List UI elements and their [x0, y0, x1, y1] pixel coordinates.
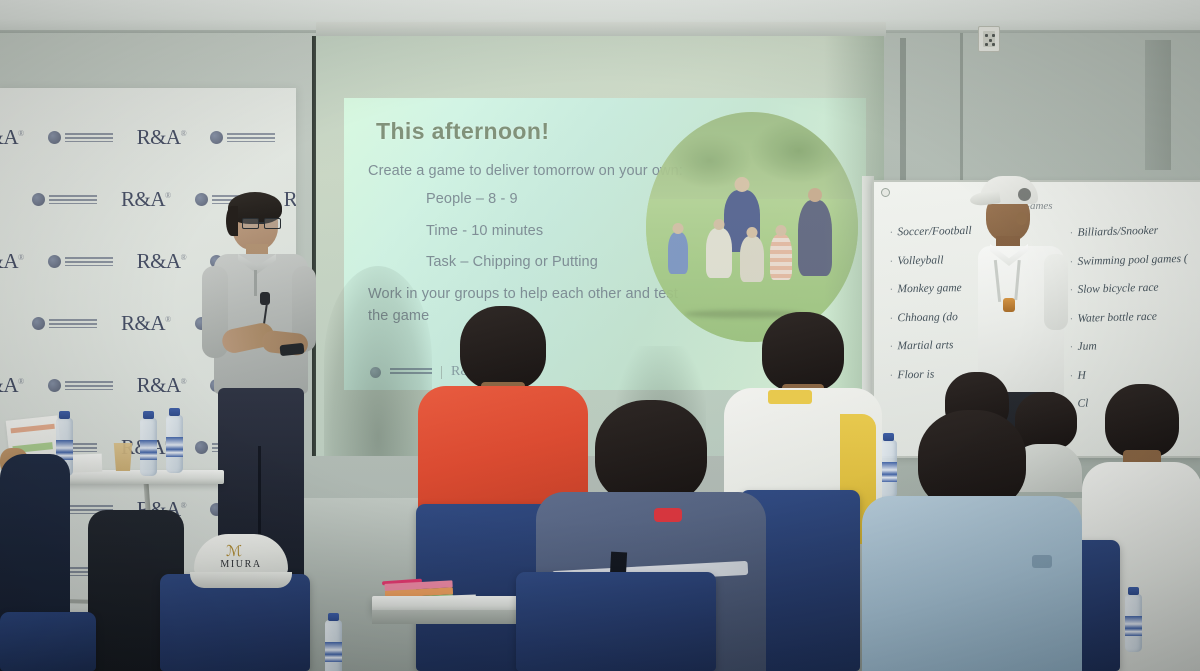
sponsor-logo	[32, 193, 97, 206]
sponsor-mark-icon	[210, 131, 223, 144]
water-bottle[interactable]	[166, 415, 183, 473]
miura-cap: ℳ MIURA	[190, 534, 292, 592]
sponsor-logo	[210, 131, 275, 144]
sponsor-mark-icon	[32, 317, 45, 330]
whiteboard-item-label: Swimming pool games (	[1077, 253, 1187, 268]
sponsor-mark-icon	[32, 193, 45, 206]
presenter-hair-side	[226, 206, 238, 236]
ra-logo: R&A®	[137, 125, 187, 150]
flipchart-band	[11, 424, 55, 434]
whiteboard-item-label: Monkey game	[897, 283, 961, 296]
ra-logo: R&A®	[137, 373, 187, 398]
photo-figure-child	[706, 228, 732, 278]
shirt-pocket	[1032, 555, 1052, 568]
cap-brim	[190, 572, 292, 588]
lanyard-badge	[1003, 298, 1015, 312]
attendee-light-blue-polo	[862, 410, 1082, 671]
slide-title: This afternoon!	[376, 118, 549, 145]
whiteboard-item-label: Volleyball	[897, 255, 943, 267]
bullet-icon: ·	[890, 285, 893, 295]
whiteboard-item: ·Water bottle race	[1070, 309, 1200, 325]
whiteboard-item: ·Jum	[1070, 338, 1200, 354]
slide-photo	[646, 112, 858, 342]
chair[interactable]	[0, 612, 96, 671]
sponsor-mark-icon	[370, 367, 381, 378]
whiteboard-item-label: Soccer/Football	[897, 226, 971, 239]
cap-logo-icon	[1018, 188, 1031, 201]
whiteboard-item: ·Swimming pool games (	[1070, 252, 1200, 268]
sponsor-wordmark-icon	[49, 195, 97, 204]
water-bottle[interactable]	[325, 620, 342, 671]
bullet-icon: ·	[890, 342, 893, 352]
backdrop-logo-row: R&A®R&A®R&A®	[0, 106, 296, 168]
sponsor-mark-icon	[48, 131, 61, 144]
shirt-accent	[654, 508, 682, 522]
ra-logo: R&A®	[0, 125, 24, 150]
cap-brand-text: MIURA	[190, 559, 292, 570]
presenter-placket	[254, 270, 257, 296]
door-jamb	[900, 38, 906, 188]
bullet-icon: ·	[890, 257, 893, 267]
ra-logo: R&A®	[137, 249, 187, 274]
ra-logo: R&A®	[0, 373, 24, 398]
bullet-icon: ·	[890, 371, 893, 381]
photo-figure-child	[770, 234, 792, 280]
ra-logo: R&A®	[0, 249, 24, 274]
facilitator-sleeve	[1044, 254, 1068, 330]
photo-figure-child	[668, 232, 688, 274]
socket-hole	[985, 34, 988, 37]
wall-column	[1145, 40, 1171, 170]
sponsor-mark-icon	[48, 255, 61, 268]
sponsor-wordmark-icon	[65, 133, 113, 142]
sponsor-mark-icon	[48, 379, 61, 392]
power-socket-icon[interactable]	[978, 26, 1000, 52]
socket-hole	[992, 34, 995, 37]
facilitator-ear	[1016, 212, 1027, 225]
socket-hole	[985, 43, 988, 46]
sponsor-logo	[48, 131, 113, 144]
chair[interactable]	[516, 572, 716, 671]
whiteboard-item-label: Slow bicycle race	[1077, 283, 1158, 297]
ra-logo: R&A®	[121, 187, 171, 212]
photo-figure-adult	[798, 200, 832, 276]
whiteboard-item-label: Water bottle race	[1077, 311, 1157, 325]
whiteboard-item: ·Slow bicycle race	[1070, 281, 1200, 297]
sponsor-logo	[48, 379, 113, 392]
whiteboard-item: ·H	[1070, 366, 1200, 382]
whiteboard-item: ·Billiards/Snooker	[1070, 224, 1200, 240]
classroom-scene: R&A®R&A®R&A®R&A®R&A®R&A®R&A®R&A®R&A®R&A®…	[0, 0, 1200, 671]
whiteboard-item-label: Martial arts	[897, 340, 953, 353]
bullet-icon: ·	[890, 314, 893, 324]
whiteboard-magnet-icon[interactable]	[881, 188, 890, 197]
bullet-icon: ·	[890, 228, 893, 238]
water-bottle[interactable]	[1125, 594, 1142, 652]
whiteboard-item-label: Floor is	[897, 369, 934, 381]
sponsor-logo	[48, 255, 113, 268]
whiteboard-item-label: Billiards/Snooker	[1077, 226, 1158, 240]
sponsor-wordmark-icon	[49, 319, 97, 328]
sponsor-logo	[32, 317, 97, 330]
ra-logo: R&A®	[121, 311, 171, 336]
glasses-icon	[242, 218, 282, 230]
sponsor-wordmark-icon	[65, 381, 113, 390]
socket-hole	[992, 43, 995, 46]
sponsor-wordmark-icon	[227, 133, 275, 142]
yellow-collar	[768, 390, 812, 404]
water-bottle[interactable]	[140, 418, 157, 476]
socket-hole	[989, 39, 992, 42]
sponsor-wordmark-icon	[65, 257, 113, 266]
whiteboard-item-label: Chhoang (do	[897, 312, 958, 325]
photo-figure-child	[740, 236, 764, 282]
